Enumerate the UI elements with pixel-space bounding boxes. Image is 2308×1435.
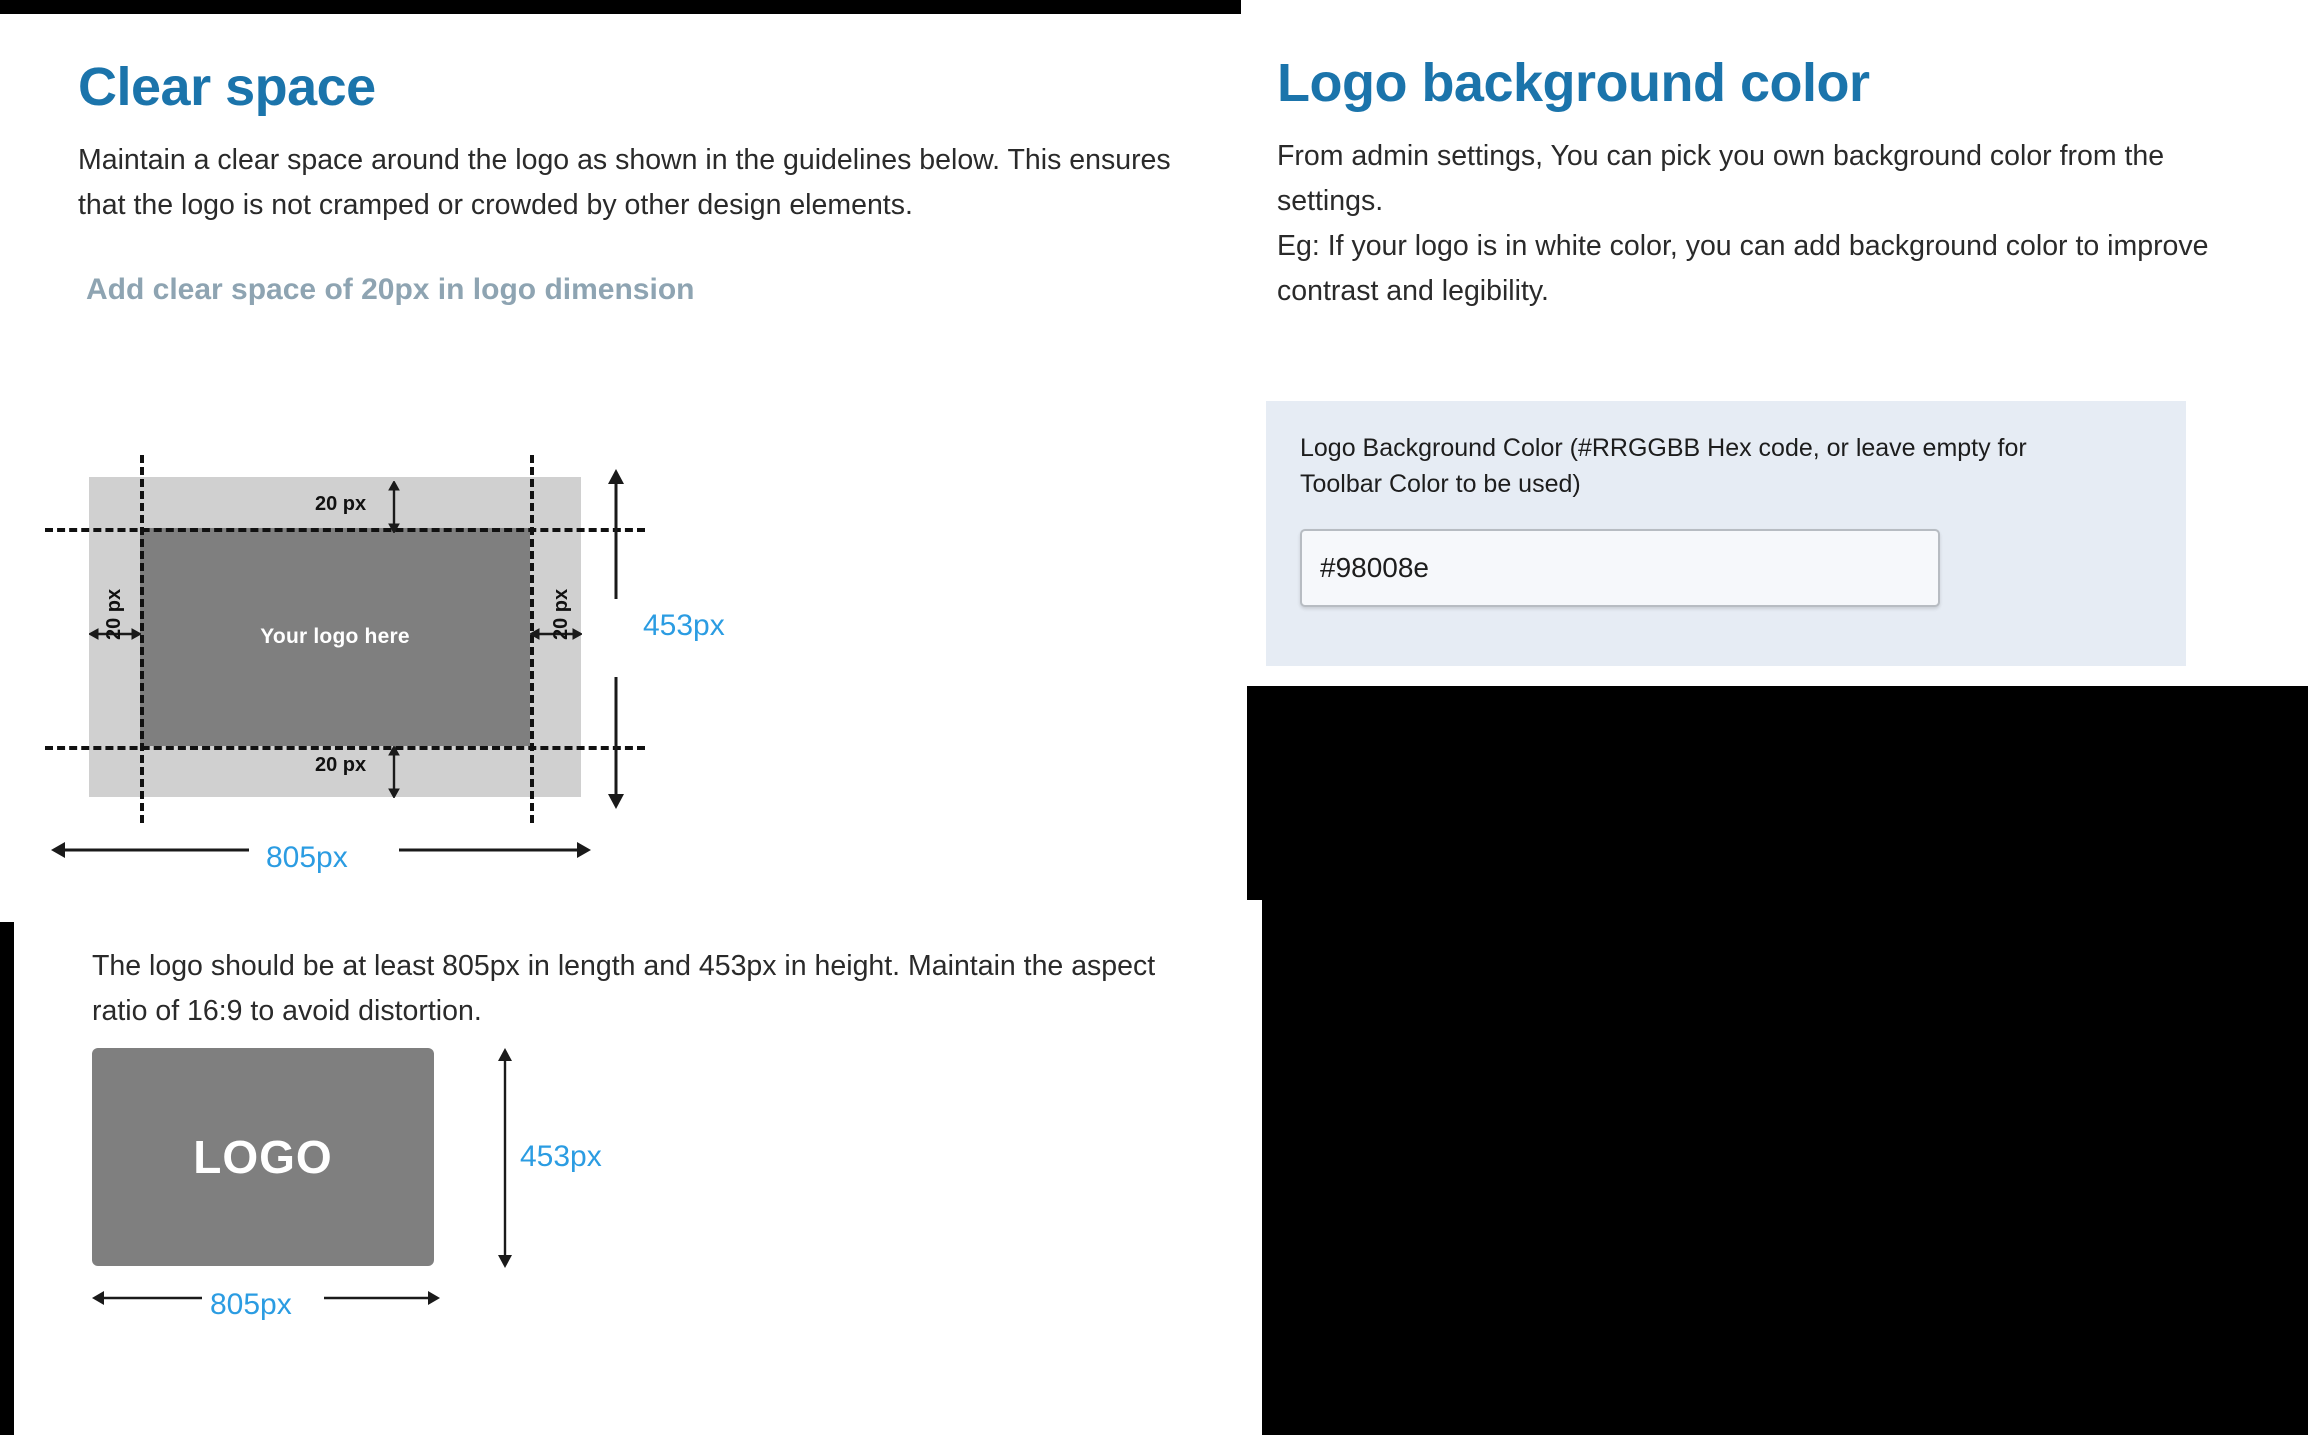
measure-label-left: 20 px bbox=[103, 589, 126, 640]
logo-background-color-title: Logo background color bbox=[1277, 54, 2277, 112]
logo-placeholder-label: Your logo here bbox=[140, 528, 530, 746]
logo-sample-height-dimension: 453px bbox=[492, 1048, 662, 1268]
logo-background-color-field-label: Logo Background Color (#RRGGBB Hex code,… bbox=[1300, 431, 2060, 502]
logo-background-color-setting-panel: Logo Background Color (#RRGGBB Hex code,… bbox=[1266, 401, 2186, 666]
guide-line-top bbox=[45, 528, 645, 532]
logo-background-color-input[interactable]: #98008e bbox=[1300, 529, 1940, 607]
gap-arrow-top-icon bbox=[383, 481, 405, 533]
clear-space-diagram: Your logo here 20 px 20 p bbox=[45, 455, 745, 875]
logo-background-paragraph-1: From admin settings, You can pick you ow… bbox=[1277, 134, 2277, 224]
sample-height-label: 453px bbox=[520, 1140, 602, 1174]
logo-sample-box: LOGO bbox=[92, 1048, 434, 1266]
sample-width-label: 805px bbox=[210, 1288, 292, 1322]
logo-background-color-input-value: #98008e bbox=[1320, 552, 1429, 584]
occlusion-mask-right-lower bbox=[1262, 898, 2308, 1435]
occlusion-mask-left bbox=[0, 922, 14, 1435]
measure-label-top: 20 px bbox=[315, 493, 366, 516]
clear-space-title: Clear space bbox=[78, 58, 1198, 116]
diagram-height-dimension: 453px bbox=[601, 469, 761, 809]
occlusion-mask-right-upper bbox=[1247, 686, 2308, 900]
logo-sample-label: LOGO bbox=[193, 1130, 332, 1184]
logo-placeholder-box: Your logo here bbox=[140, 528, 530, 746]
logo-spec-paragraph: The logo should be at least 805px in len… bbox=[92, 944, 1212, 1035]
guide-line-bottom bbox=[45, 746, 645, 750]
occlusion-mask-top bbox=[0, 0, 1241, 14]
height-dimension-arrow-icon bbox=[601, 469, 631, 809]
width-dimension-label: 805px bbox=[266, 841, 348, 875]
height-dimension-label: 453px bbox=[643, 609, 725, 643]
logo-background-color-section: Logo background color From admin setting… bbox=[1277, 54, 2277, 314]
diagram-width-dimension: 805px bbox=[51, 835, 591, 891]
clear-space-sub-heading: Add clear space of 20px in logo dimensio… bbox=[86, 272, 1198, 308]
measure-label-right: 20 px bbox=[550, 589, 573, 640]
gap-arrow-bottom-icon bbox=[383, 746, 405, 798]
sample-height-arrow-icon bbox=[492, 1048, 518, 1268]
clear-space-section: Clear space Maintain a clear space aroun… bbox=[78, 58, 1198, 308]
logo-background-paragraph-2: Eg: If your logo is in white color, you … bbox=[1277, 224, 2277, 314]
clear-space-paragraph: Maintain a clear space around the logo a… bbox=[78, 138, 1178, 228]
logo-sample-diagram: LOGO 453px 805px bbox=[92, 1040, 652, 1340]
logo-sample-width-dimension: 805px bbox=[92, 1284, 440, 1340]
measure-label-bottom: 20 px bbox=[315, 754, 366, 777]
